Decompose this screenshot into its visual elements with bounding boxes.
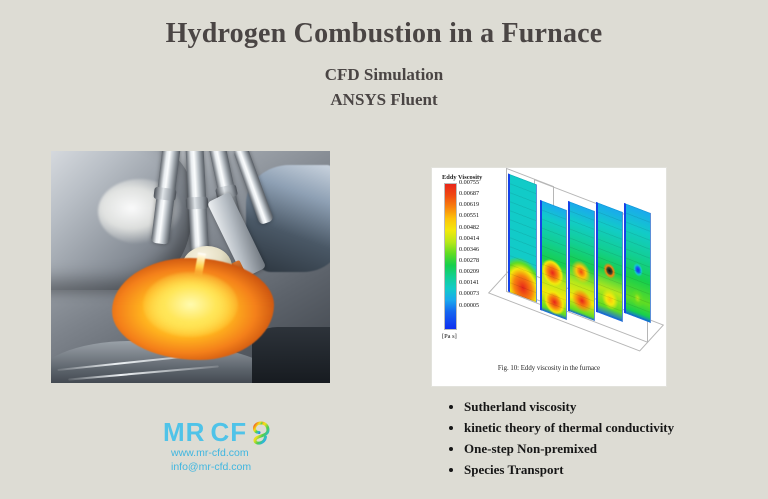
logo-text-cf: CF	[210, 419, 247, 445]
contour-slice-4	[596, 202, 623, 322]
flame-hotspot	[143, 272, 238, 337]
logo-contact-block: www.mr-cfd.com info@mr-cfd.com	[171, 447, 251, 475]
page-title: Hydrogen Combustion in a Furnace	[0, 18, 768, 50]
contour-lines-5	[626, 204, 650, 323]
contour-lines-2	[542, 201, 566, 320]
rod-collar-2	[186, 197, 209, 210]
photo-shadow-corner	[252, 327, 330, 383]
contour-slice-5	[624, 203, 651, 323]
logo-text-mr: MR	[163, 419, 205, 445]
logo-website[interactable]: www.mr-cfd.com	[171, 447, 251, 461]
logo-rainbow-d-icon	[252, 421, 270, 443]
colorbar-gradient	[444, 183, 457, 330]
furnace-3d-view	[490, 173, 662, 355]
list-item: Species Transport	[464, 463, 750, 478]
logo-email[interactable]: info@mr-cfd.com	[171, 461, 251, 475]
cfd-figure-panel: Eddy Viscosity 0.00755 0.00687 0.00619 0…	[432, 168, 666, 386]
slide-root: Hydrogen Combustion in a Furnace CFD Sim…	[0, 0, 768, 499]
list-item: One-step Non-premixed	[464, 442, 750, 457]
contour-slice-1	[508, 173, 537, 302]
figure-caption: Fig. 10: Eddy viscosity in the furnace	[432, 365, 666, 372]
contour-slice-2	[540, 200, 567, 320]
contour-lines-3	[570, 202, 594, 321]
contour-lines-4	[598, 203, 622, 322]
list-item: Sutherland viscosity	[464, 400, 750, 415]
engine-combustion-photo	[51, 151, 330, 383]
feature-bullet-list: Sutherland viscosity kinetic theory of t…	[450, 400, 750, 484]
colorbar-unit: [Pa s]	[442, 333, 457, 340]
logo-wordmark: MR CF	[163, 419, 270, 445]
contour-lines-1	[510, 174, 536, 302]
subtitle-simulation: CFD Simulation	[0, 65, 768, 85]
subtitle-solver: ANSYS Fluent	[0, 90, 768, 110]
mrcfd-logo[interactable]: MR CF	[163, 419, 293, 475]
contour-slice-3	[568, 201, 595, 321]
list-item: kinetic theory of thermal conductivity	[464, 421, 750, 436]
